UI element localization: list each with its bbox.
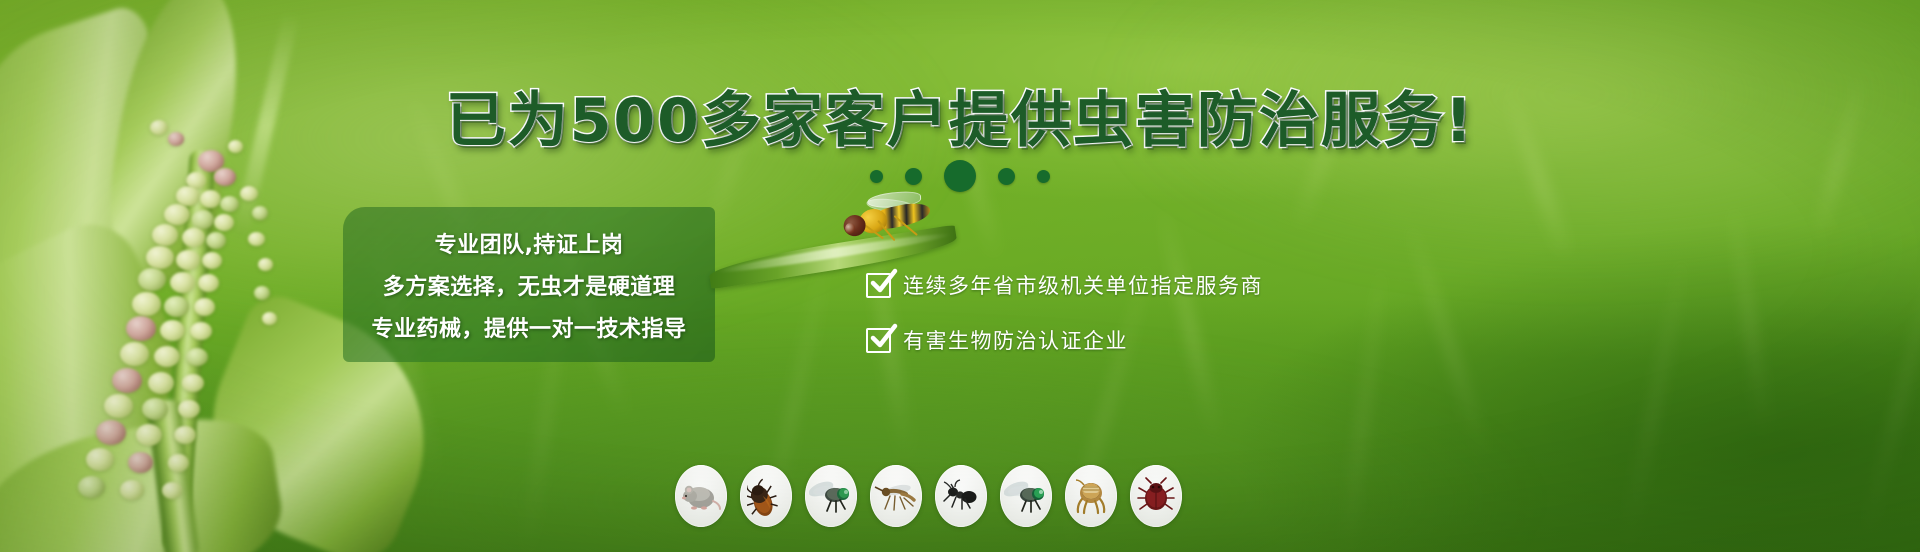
dot-small (1037, 170, 1050, 183)
flower-bud (186, 348, 208, 366)
decorative-dot-row (870, 160, 1050, 192)
flower-bud (214, 214, 234, 231)
flower-bud (214, 168, 236, 186)
flower-bud (262, 312, 277, 325)
feature-bullet: 有害生物防治认证企业 (866, 325, 1263, 355)
flower-bud (182, 374, 204, 392)
flower-bud (136, 424, 162, 446)
flower-bud (164, 204, 190, 225)
flower-bud (170, 272, 195, 293)
flower-bud (248, 232, 265, 246)
flower-bud (220, 196, 239, 212)
flower-bud (164, 296, 189, 317)
bedbug-icon[interactable] (1130, 465, 1182, 527)
flower-bud (146, 246, 174, 269)
headline-text: 已为500多家客户提供虫害防治服务! (446, 72, 1475, 159)
flower-bud (176, 250, 200, 270)
slogan-line-3: 专业药械，提供一对一技术指导 (371, 311, 686, 343)
flower-bud (200, 190, 221, 208)
flower-bud (126, 316, 156, 341)
flower-bud (96, 420, 126, 445)
flower-bud (104, 394, 133, 418)
flower-bud (176, 186, 200, 206)
flower-bud (160, 320, 185, 341)
slogan-line-2: 多方案选择，无虫才是硬道理 (383, 269, 676, 301)
cockroach-icon[interactable] (740, 465, 792, 527)
fly-eye (844, 222, 856, 235)
flower-bud (182, 228, 205, 247)
flower-bud (168, 454, 189, 472)
mosquito-icon[interactable] (870, 465, 922, 527)
flower-bud (192, 210, 214, 229)
greenbottle-fly-icon[interactable] (1000, 465, 1052, 527)
flower-bud (154, 346, 180, 367)
flower-bud (240, 186, 258, 201)
flower-bud (152, 224, 178, 246)
housefly-icon[interactable] (805, 465, 857, 527)
mouse-icon[interactable] (675, 465, 727, 527)
flower-bud (202, 252, 222, 269)
feature-bullet-label: 连续多年省市级机关单位指定服务商 (903, 270, 1263, 300)
slogan-line-1: 专业团队,持证上岗 (435, 227, 624, 259)
dot-medium (998, 168, 1015, 185)
flower-bud (174, 426, 196, 444)
flower-bud (112, 368, 142, 393)
flower-bud (86, 448, 114, 471)
feature-bullet-list: 连续多年省市级机关单位指定服务商有害生物防治认证企业 (866, 270, 1263, 355)
feature-bullet: 连续多年省市级机关单位指定服务商 (866, 270, 1263, 300)
feature-bullet-label: 有害生物防治认证企业 (903, 325, 1128, 355)
flower-bud (190, 322, 212, 340)
pest-control-hero-banner: 已为500多家客户提供虫害防治服务! 专业团队,持证上岗 多方案选择，无虫才是硬… (0, 0, 1920, 552)
flower-bud (254, 286, 270, 300)
flower-bud (78, 476, 105, 498)
flower-bud (198, 274, 219, 292)
dot-medium (905, 168, 922, 185)
flower-bud (148, 372, 174, 394)
flower-bud (194, 298, 215, 316)
flower-bud (178, 400, 200, 418)
dot-large (944, 160, 976, 192)
flea-icon[interactable] (1065, 465, 1117, 527)
slogan-panel-text: 专业团队,持证上岗 多方案选择，无虫才是硬道理 专业药械，提供一对一技术指导 (343, 207, 715, 362)
checkbox-checked-icon (866, 273, 891, 298)
page-title: 已为500多家客户提供虫害防治服务! (0, 72, 1920, 159)
background-corner-shade (1229, 221, 1920, 552)
dot-small (870, 170, 883, 183)
flower-bud (142, 398, 168, 420)
flower-bud (138, 268, 166, 291)
flower-bud (120, 342, 149, 366)
pest-icon-row (675, 465, 1182, 527)
flower-bud (132, 292, 161, 316)
flower-bud (252, 206, 268, 220)
flower-bud (128, 452, 153, 473)
checkbox-checked-icon (866, 328, 891, 353)
flower-bud (162, 482, 182, 499)
flower-bud (120, 480, 144, 500)
ant-icon[interactable] (935, 465, 987, 527)
flower-bud (206, 232, 226, 249)
flower-bud (258, 258, 273, 271)
